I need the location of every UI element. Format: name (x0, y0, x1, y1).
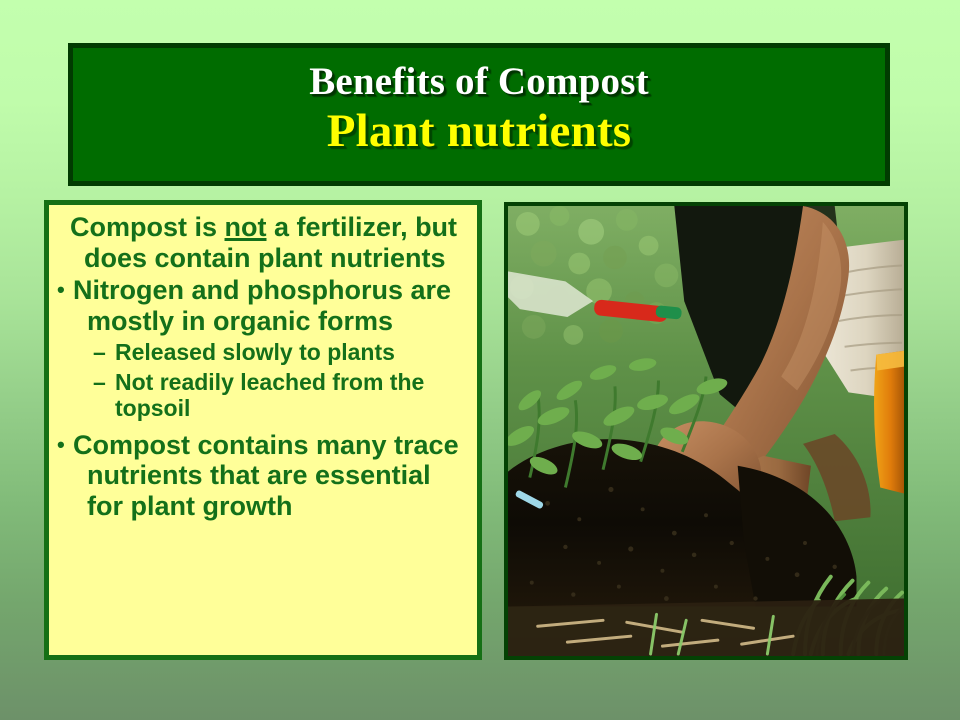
photo-illustration (508, 206, 904, 656)
page-subtitle: Plant nutrients (73, 105, 885, 157)
title-box: Benefits of Compost Plant nutrients (68, 43, 890, 186)
sub-list-item-text: Not readily leached from the topsoil (115, 369, 469, 422)
compost-gardening-photo (504, 202, 908, 660)
dash-marker: – (93, 339, 115, 366)
list-item-text: Compost is not a fertilizer, but does co… (70, 212, 469, 273)
sub-list-item: – Released slowly to plants (57, 339, 469, 366)
orange-bucket (874, 351, 904, 494)
slide-canvas: Benefits of Compost Plant nutrients Comp… (0, 0, 960, 720)
straw-mulch (508, 599, 904, 656)
sub-list-item: – Not readily leached from the topsoil (57, 369, 469, 422)
dash-marker: – (93, 369, 115, 396)
bullet-marker: • (57, 275, 73, 306)
bullet-marker: • (57, 430, 73, 461)
sub-list-item-text: Released slowly to plants (115, 339, 469, 366)
list-item: • Compost contains many trace nutrients … (57, 430, 469, 522)
list-item: Compost is not a fertilizer, but does co… (57, 212, 469, 273)
text-segment: Compost is (70, 212, 225, 242)
text-segment-underlined: not (225, 212, 267, 242)
content-text-box: Compost is not a fertilizer, but does co… (44, 200, 482, 660)
page-title: Benefits of Compost (73, 60, 885, 104)
list-item: • Nitrogen and phosphorus are mostly in … (57, 275, 469, 336)
list-item-text: Compost contains many trace nutrients th… (73, 430, 469, 522)
list-item-text: Nitrogen and phosphorus are mostly in or… (73, 275, 469, 336)
